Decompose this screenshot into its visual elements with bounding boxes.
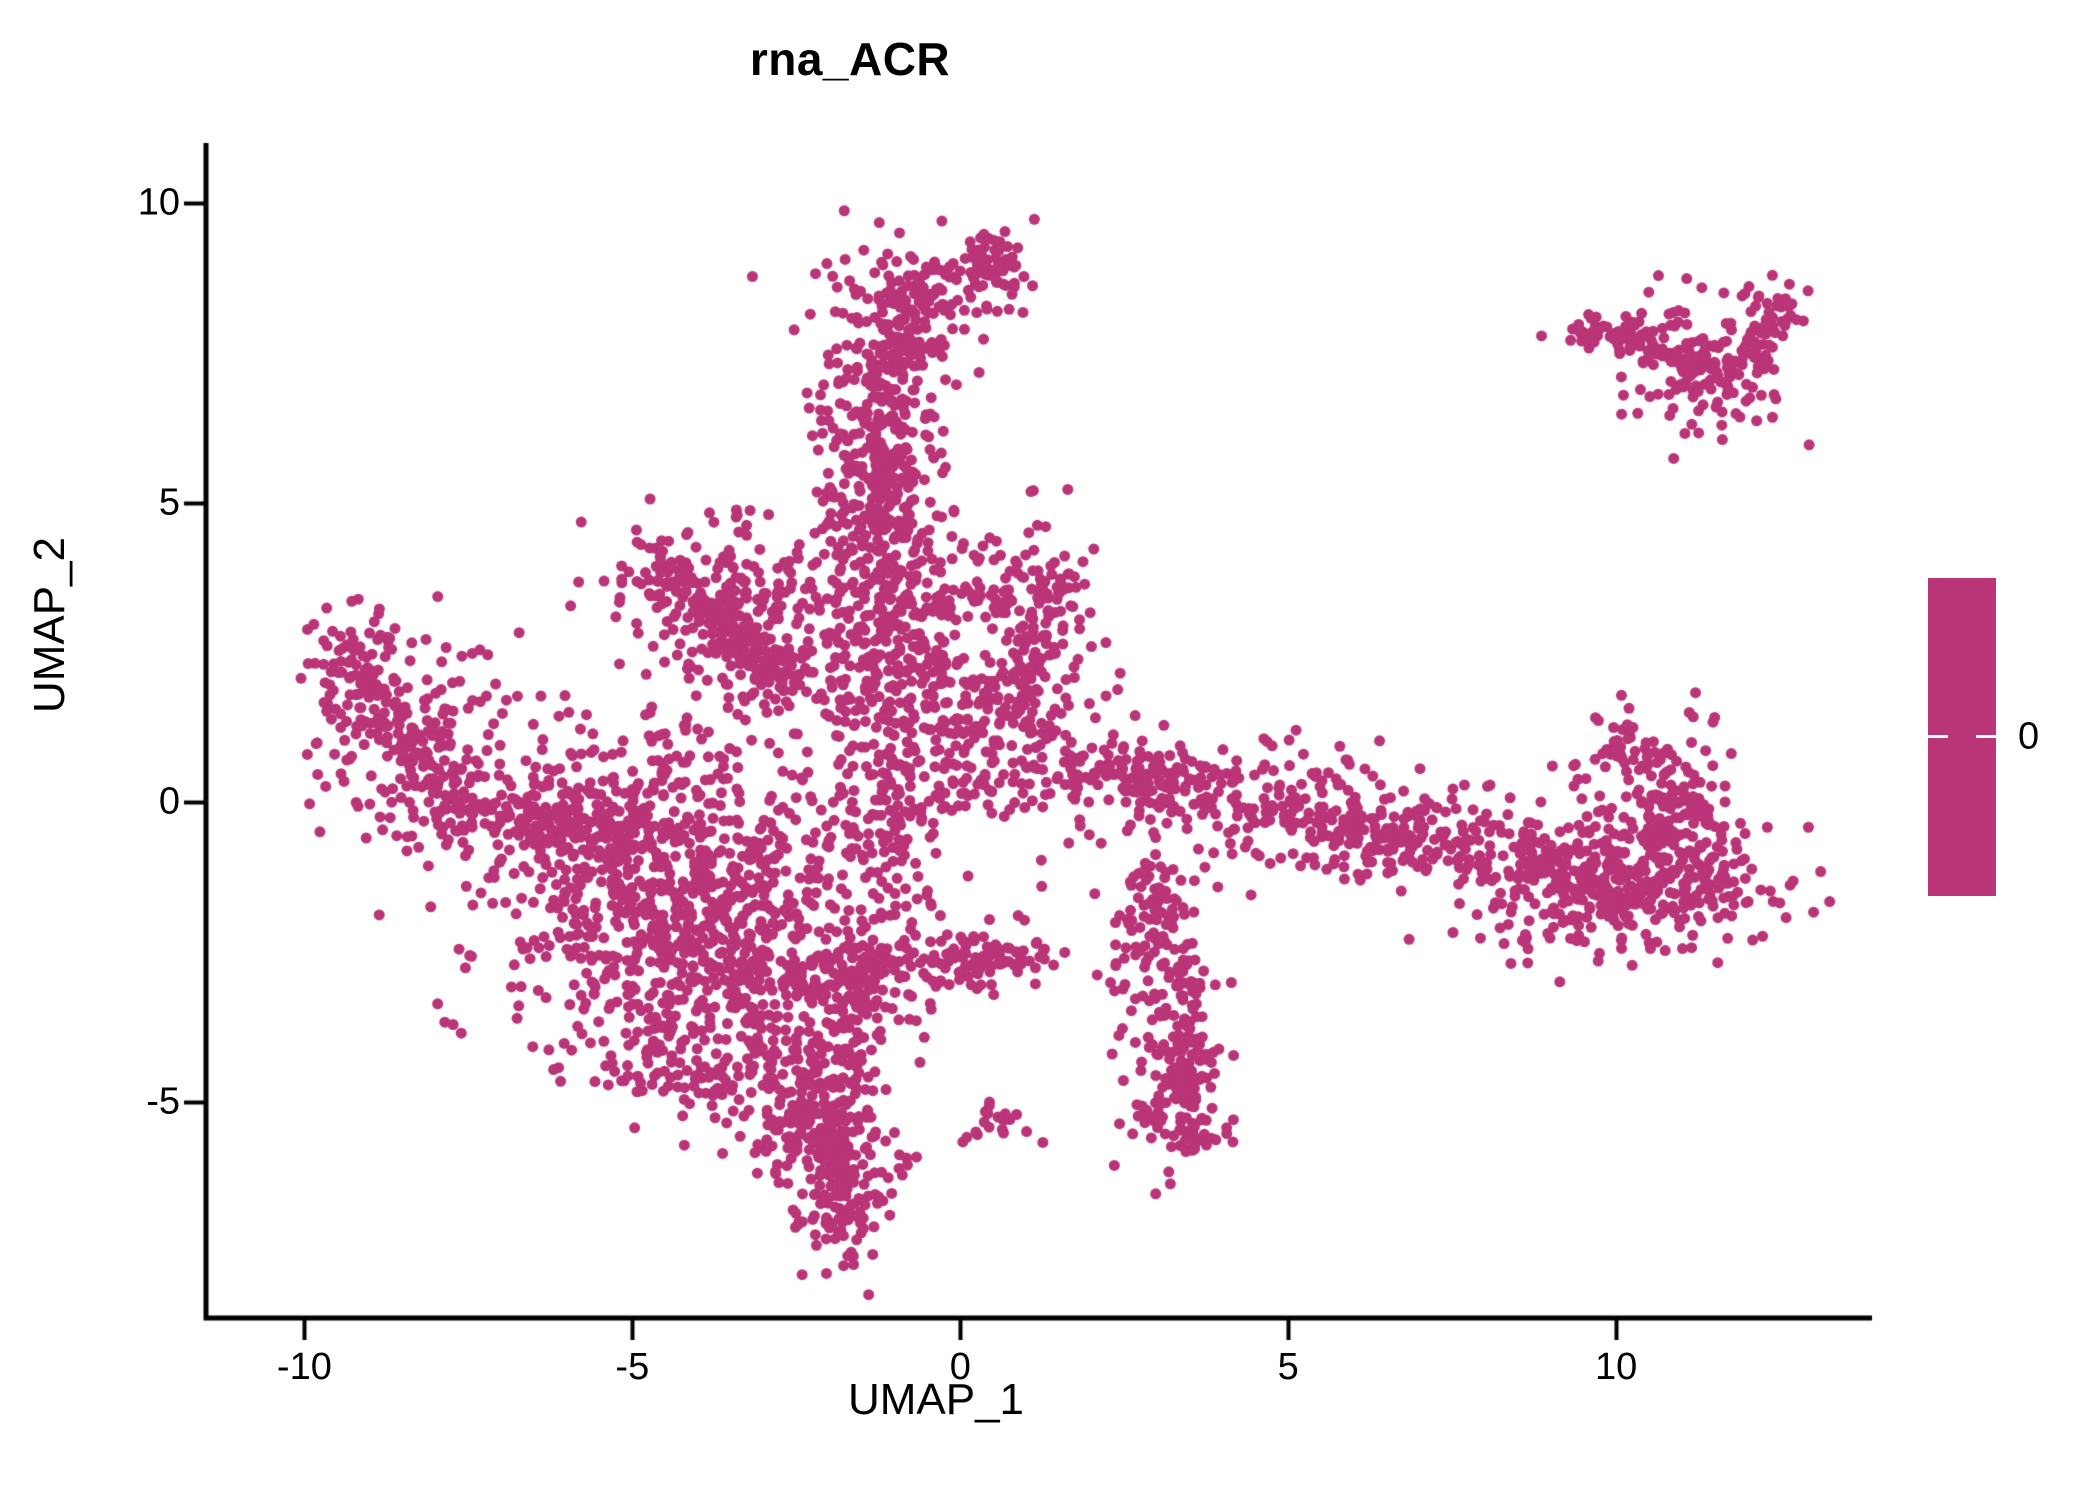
colorbar-tick-right (1976, 735, 1996, 738)
figure-root: rna_ACR 1050-5 -10-50510 UMAP_1 UMAP_2 0 (0, 0, 2100, 1500)
scatter-plot-canvas (0, 0, 2100, 1500)
y-tick-label: 10 (60, 181, 180, 224)
colorbar-tick-label-0: 0 (2018, 716, 2039, 759)
y-tick-label: 0 (60, 781, 180, 824)
y-tick-label: -5 (60, 1081, 180, 1124)
colorbar-legend (1928, 578, 1996, 896)
y-axis-title: UMAP_2 (25, 325, 75, 925)
y-tick-label: 5 (60, 481, 180, 524)
colorbar-tick-left (1928, 735, 1948, 738)
x-axis-title: UMAP_1 (0, 1375, 1872, 1425)
